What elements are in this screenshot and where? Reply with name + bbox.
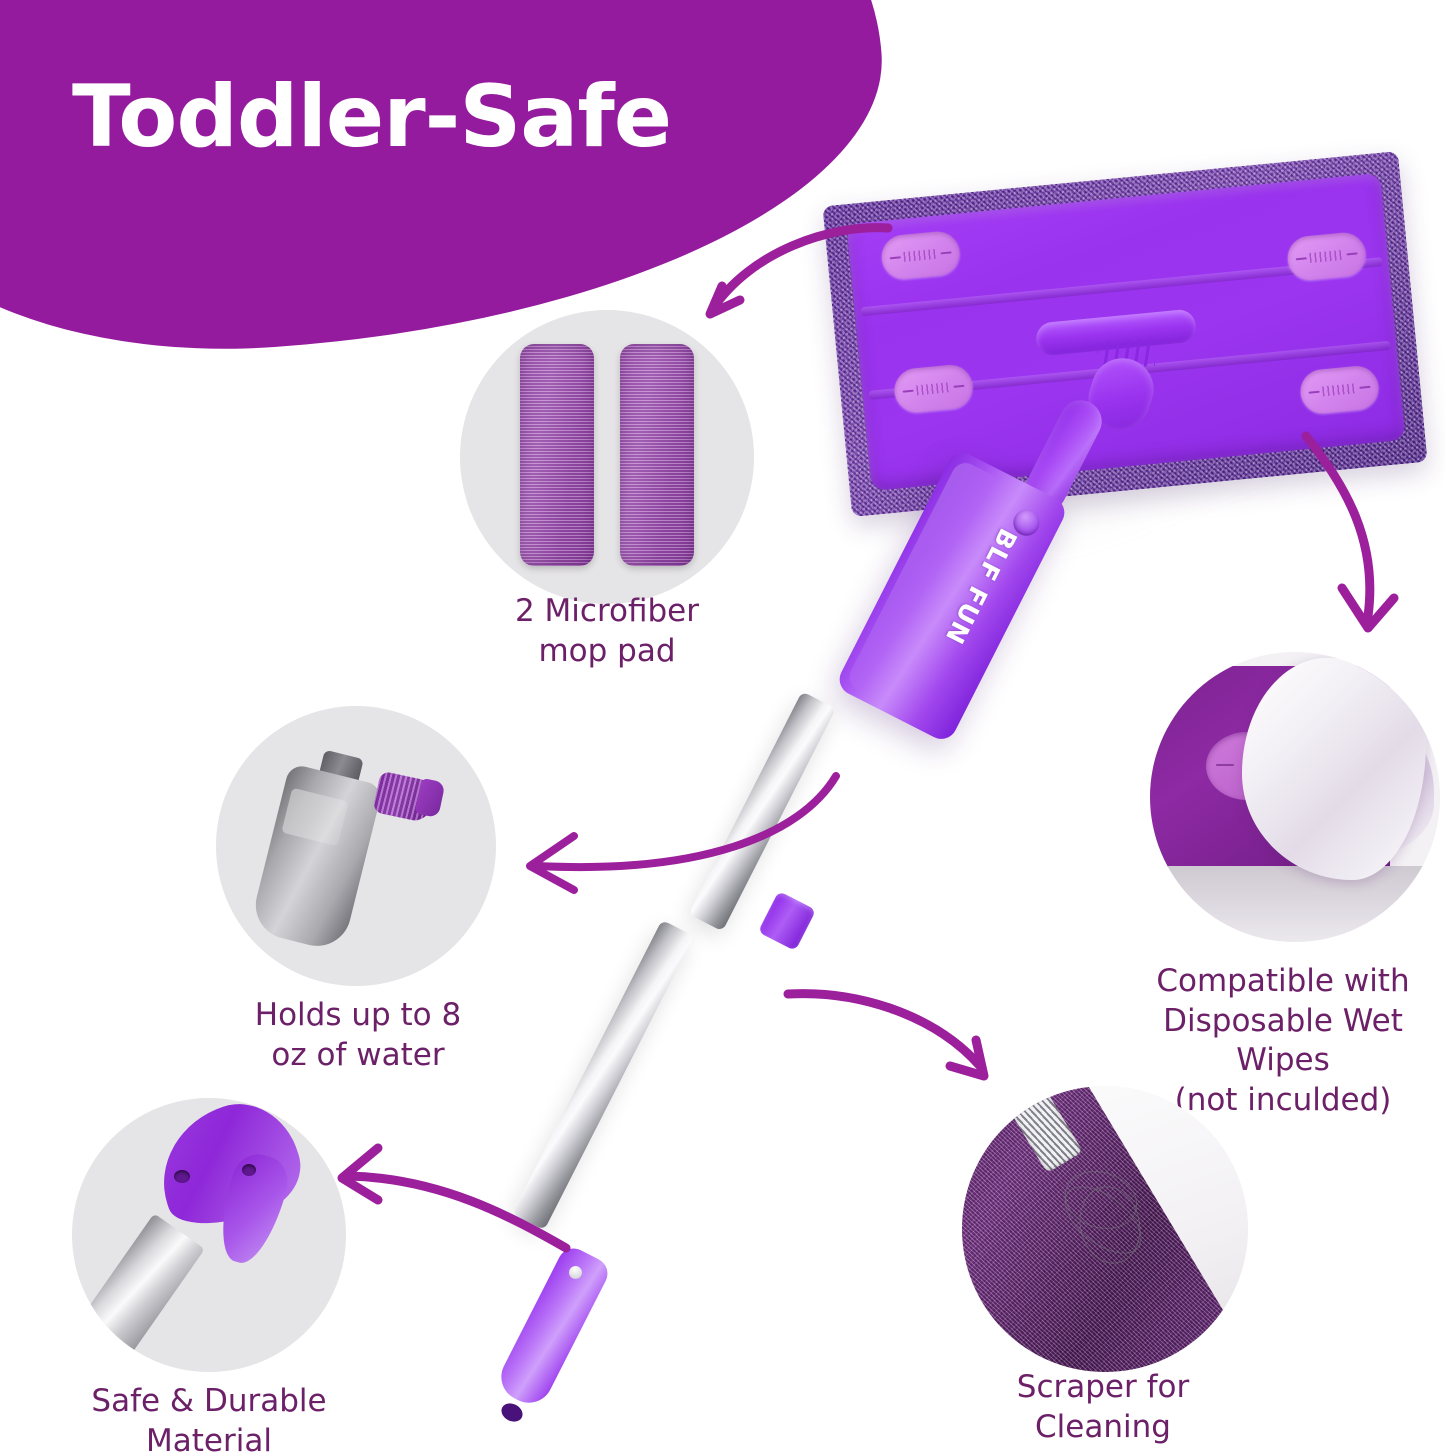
callout-circle-safe-material [72,1098,346,1372]
grip-mark [890,256,901,259]
joint-hole [242,1164,256,1176]
pole-collar [758,891,816,951]
callout-circle-scraper [962,1086,1248,1372]
grip-wave [1309,250,1344,263]
grip-mark [1216,764,1234,766]
caption-microfiber-pads: 2 Microfiber mop pad [432,592,782,671]
grip-mark [1309,391,1320,394]
joint-aluminum-pole [72,1213,205,1372]
mop-grip-pad [1286,231,1368,282]
grip-wave [903,249,938,262]
grip-mark [941,251,952,254]
callout-circle-wet-wipes [1150,652,1440,942]
water-bottle-body [249,763,384,953]
joint-hole [174,1170,190,1183]
caption-water-tank: Holds up to 8 oz of water [188,996,528,1075]
microfiber-pad [520,344,594,566]
telescoping-pole-upper [689,691,836,931]
grip-mark [1346,252,1357,255]
microfiber-pad [620,344,694,566]
callout-circle-water-tank [216,706,496,986]
caption-safe-material: Safe & Durable Material [34,1382,384,1452]
mop-grip-pad [880,230,962,281]
header-blob-shape [0,0,899,375]
mop-grip-pad [893,363,975,414]
pole-end-cap [493,1243,613,1411]
end-cap-hang-hole [498,1400,525,1425]
telescoping-pole-lower [512,920,694,1230]
wet-wipes-floor [1150,866,1440,942]
caption-scraper: Scraper for Cleaning [938,1368,1268,1447]
callout-circle-microfiber-pads [460,310,754,604]
grip-mark [903,390,914,393]
grip-mark [953,385,964,388]
grip-mark [1296,257,1307,260]
grip-mark [1359,386,1370,389]
grip-wave [1322,383,1357,396]
arrow-to-scraper [780,980,1030,1100]
grip-wave [916,382,951,395]
mop-grip-pad [1299,364,1381,415]
page-title: Toddler-Safe [72,74,671,160]
infographic-canvas: Toddler-Safe [0,0,1445,1452]
